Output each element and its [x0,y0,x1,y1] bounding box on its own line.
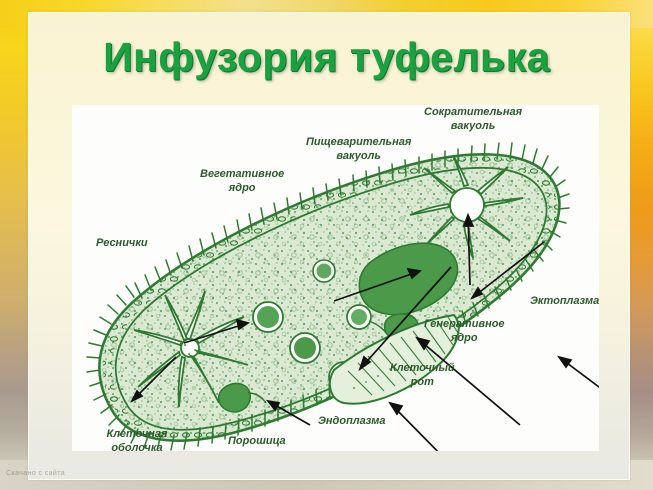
label-cilia: Реснички [96,237,148,249]
label-cell-mouth: Клеточный рот [390,361,455,389]
label-vegetative-nucleus: Вегетативное ядро [200,167,284,195]
label-digestive-vacuole: Пищеварительная вакуоль [306,135,411,163]
label-digestive-vacuole-line2: вакуоль [306,149,411,163]
label-vegetative-nucleus-line1: Вегетативное [200,167,284,181]
page-title: Инфузория туфелька [0,34,653,81]
label-endoplasm-line1: Эндоплазма [318,415,385,427]
watermark: Скачано с сайта [6,470,65,477]
label-generative-nucleus-line1: Генеративное [424,317,505,331]
label-cell-mouth-line2: рот [390,375,455,389]
label-vegetative-nucleus-line2: ядро [200,181,284,195]
label-cell-membrane: Клеточная оболочка [84,427,190,455]
label-cell-membrane-line1: Клеточная [84,427,190,441]
label-endoplasm: Эндоплазма [318,415,385,427]
label-cell-membrane-line2: оболочка [84,441,190,455]
label-cytopyge: Порошица [228,435,286,447]
label-contractile-vacuole: Сократительная вакуоль [424,105,522,133]
label-contractile-vacuole-line1: Сократительная [424,105,522,119]
label-ectoplasm-line1: Эктоплазма [530,295,599,307]
label-contractile-vacuole-line2: вакуоль [424,119,522,133]
label-cytopyge-line1: Порошица [228,435,286,447]
label-generative-nucleus-line2: ядро [424,331,505,345]
slide: Инфузория туфелька [0,0,653,490]
label-cell-mouth-line1: Клеточный [390,361,455,375]
diagram-labels: Реснички Вегетативное ядро Пищеварительн… [72,105,599,451]
label-digestive-vacuole-line1: Пищеварительная [306,135,411,149]
label-ectoplasm: Эктоплазма [530,295,599,307]
label-cilia-line1: Реснички [96,237,148,249]
label-generative-nucleus: Генеративное ядро [424,317,505,345]
